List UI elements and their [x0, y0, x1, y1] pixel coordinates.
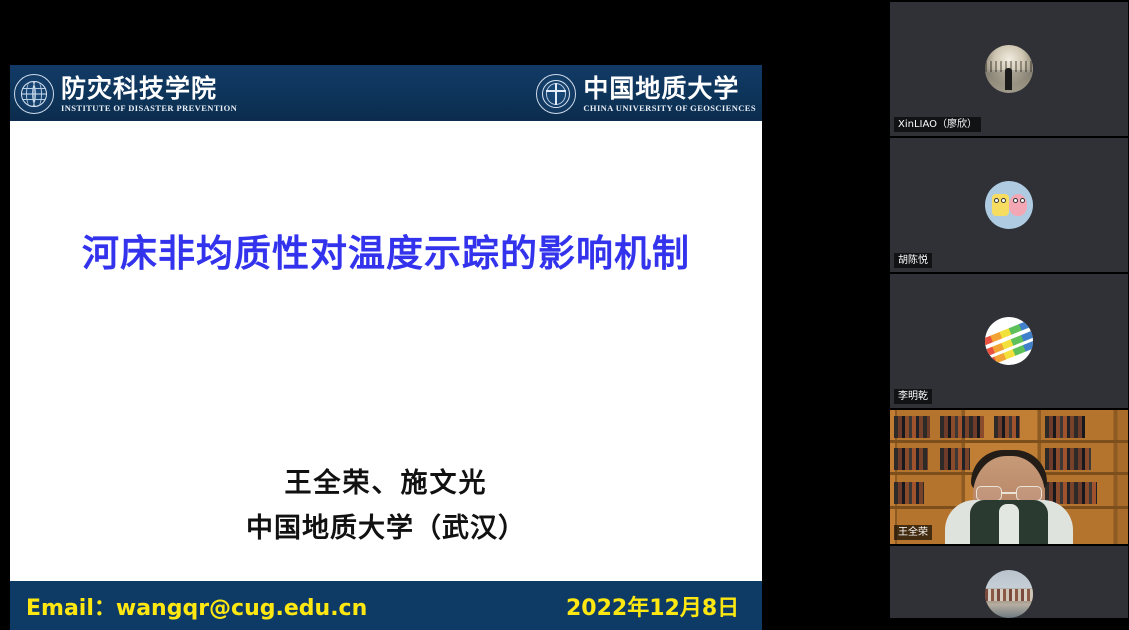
- globe-emblem-icon: [14, 74, 54, 114]
- slide-authors: 王全荣、施文光: [10, 461, 762, 500]
- slide-footer-date: 2022年12月8日: [566, 590, 739, 622]
- slide-affiliation: 中国地质大学（武汉）: [10, 506, 762, 545]
- idp-english-name: INSTITUTE OF DISASTER PREVENTION: [61, 104, 237, 113]
- participant-name: 李明乾: [894, 389, 932, 404]
- cug-chinese-name: 中国地质大学: [583, 76, 756, 101]
- slide-footer: Email：wangqr@cug.edu.cn 2022年12月8日: [10, 581, 762, 630]
- participant-name: XinLIAO（廖欣）: [894, 117, 981, 132]
- slide-banner: 防灾科技学院 INSTITUTE OF DISASTER PREVENTION …: [10, 65, 762, 123]
- participant-tile[interactable]: [890, 546, 1128, 618]
- slide-footer-email: Email：wangqr@cug.edu.cn: [26, 590, 367, 622]
- participant-name: 王全荣: [894, 525, 932, 540]
- participant-video: [890, 410, 1128, 544]
- participant-tile[interactable]: 胡陈悦: [890, 138, 1128, 272]
- shared-screen-slide[interactable]: 防灾科技学院 INSTITUTE OF DISASTER PREVENTION …: [10, 65, 762, 630]
- cross-globe-emblem-icon: [536, 74, 576, 114]
- logo-institute-of-disaster-prevention: 防灾科技学院 INSTITUTE OF DISASTER PREVENTION: [14, 74, 237, 114]
- participant-tile-active-speaker[interactable]: 王全荣: [890, 410, 1128, 544]
- app-root: 防灾科技学院 INSTITUTE OF DISASTER PREVENTION …: [0, 0, 1129, 630]
- glasses-icon: [976, 486, 1042, 501]
- avatar: [985, 570, 1033, 618]
- participant-name: 胡陈悦: [894, 253, 932, 268]
- avatar: [985, 317, 1033, 365]
- avatar: [985, 45, 1033, 93]
- logo-china-university-of-geosciences: 中国地质大学 CHINA UNIVERSITY OF GEOSCIENCES: [536, 74, 756, 114]
- idp-chinese-name: 防灾科技学院: [61, 76, 237, 101]
- participant-tile[interactable]: 李明乾: [890, 274, 1128, 408]
- avatar: [985, 181, 1033, 229]
- slide-title: 河床非均质性对温度示踪的影响机制: [10, 223, 762, 277]
- cug-english-name: CHINA UNIVERSITY OF GEOSCIENCES: [583, 104, 756, 113]
- slide-body: 河床非均质性对温度示踪的影响机制 王全荣、施文光 中国地质大学（武汉）: [10, 123, 762, 581]
- participant-tile[interactable]: XinLIAO（廖欣）: [890, 2, 1128, 136]
- participant-filmstrip[interactable]: XinLIAO（廖欣） 胡陈悦 李明乾: [889, 0, 1129, 630]
